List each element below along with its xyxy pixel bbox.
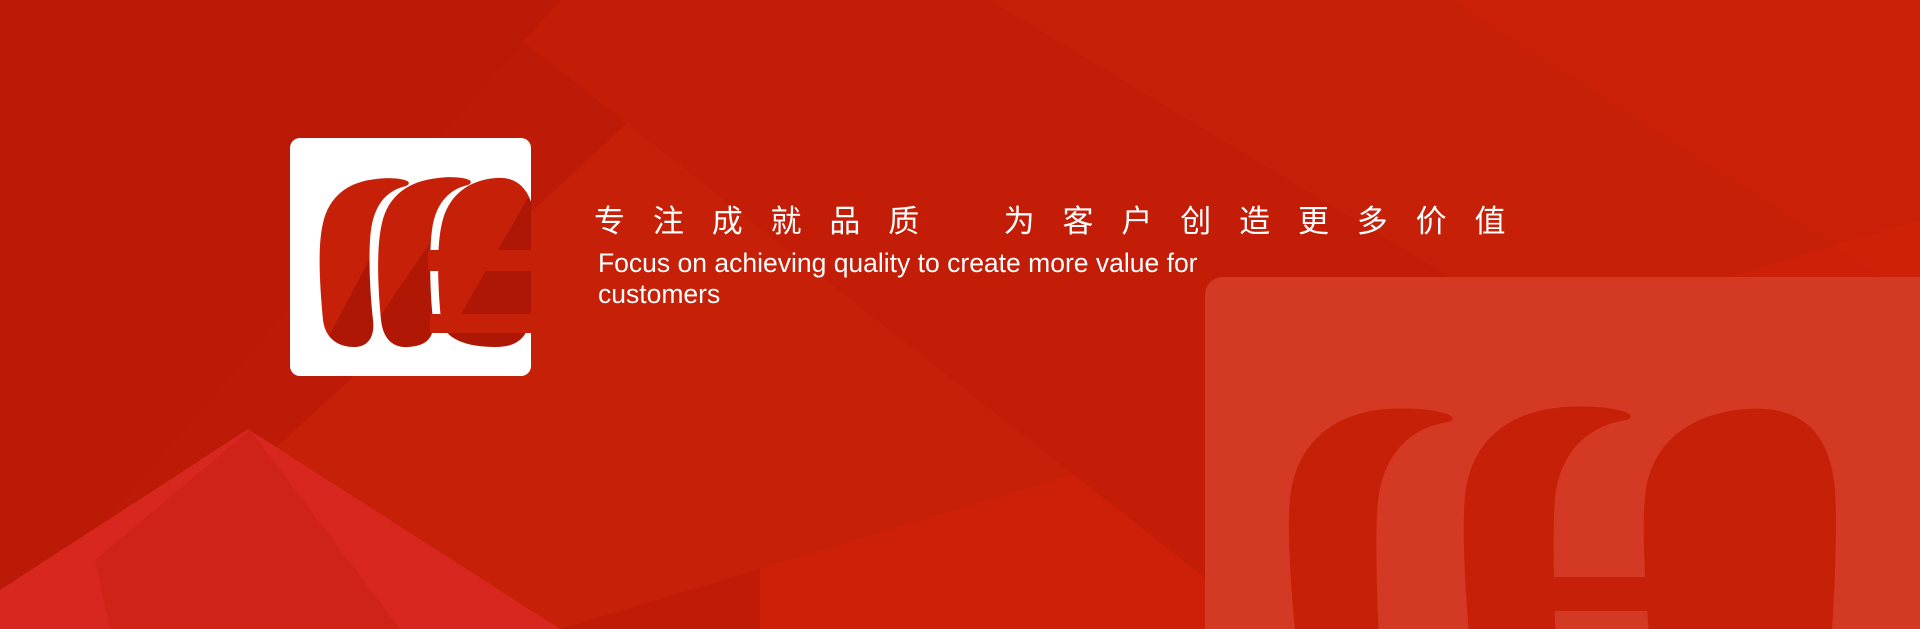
banner-subline-en: Focus on achieving quality to create mor… bbox=[598, 248, 1228, 310]
banner-content: 专 注 成 就 品 质 为 客 户 创 造 更 多 价 值 Focus on a… bbox=[0, 0, 1920, 629]
company-h-logo-icon bbox=[290, 138, 531, 376]
promo-banner: 专 注 成 就 品 质 为 客 户 创 造 更 多 价 值 Focus on a… bbox=[0, 0, 1920, 629]
banner-headline-cn: 专 注 成 就 品 质 为 客 户 创 造 更 多 价 值 bbox=[594, 200, 1354, 244]
banner-text-block: 专 注 成 就 品 质 为 客 户 创 造 更 多 价 值 Focus on a… bbox=[594, 200, 1354, 310]
logo-svg bbox=[290, 138, 531, 376]
logo-glyph bbox=[320, 158, 531, 347]
